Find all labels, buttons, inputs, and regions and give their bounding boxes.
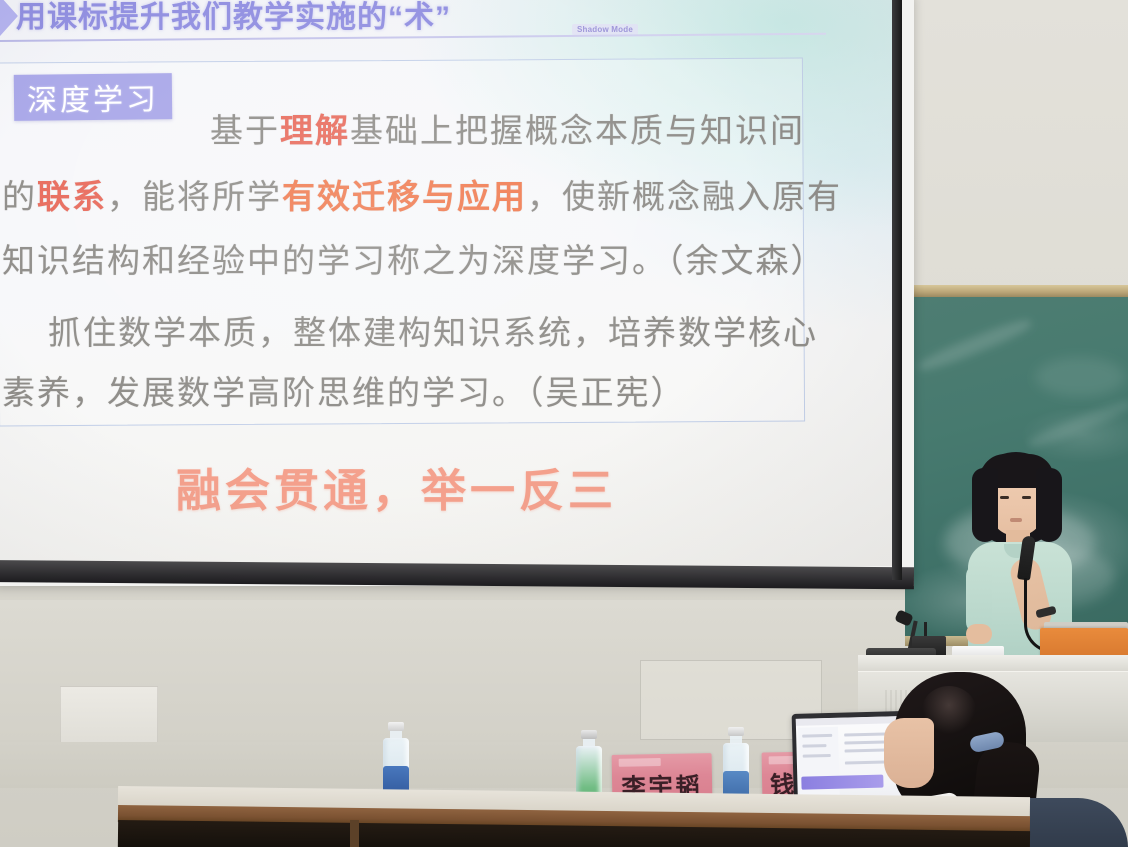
chalk-streak	[916, 315, 1033, 375]
slide-paragraph-4: 抓住数学本质，整体建构知识系统，培养数学核心	[48, 306, 818, 354]
laptop-selection-highlight	[801, 775, 883, 790]
slide-text-segment: ，能将所学	[107, 177, 282, 216]
bottle-cap	[728, 727, 744, 736]
status-badge: Shadow Mode	[572, 24, 638, 35]
slide-text-segment: 有效迁移与应用	[282, 177, 527, 216]
slide-text-segment: 的	[2, 177, 37, 216]
chalk-streak	[1026, 397, 1128, 451]
slide-paragraph-1: 基于理解基础上把握概念本质与知识间	[210, 104, 805, 152]
slide-slogan: 融会贯通，举一反三	[176, 454, 617, 519]
slide-text-segment: 基于	[210, 111, 280, 150]
slide-text-segment: ，使新概念融入原有	[527, 177, 842, 216]
nameplate-logo	[619, 758, 661, 767]
attendee-face	[884, 718, 934, 788]
screenshot-root: 用课标提升我们教学实施的“术” Shadow Mode 深度学习 基于理解基础上…	[0, 0, 1128, 847]
presenter-eye-left	[1000, 496, 1009, 499]
chalkboard-top-trim	[905, 285, 1128, 297]
presenter-eye-right	[1022, 496, 1031, 499]
chalk-smudge	[1035, 357, 1125, 397]
presenter-hand-left	[966, 624, 992, 644]
presenter-hair-left	[972, 468, 998, 542]
slide-text-segment: 基础上把握概念本质与知识间	[350, 111, 805, 150]
lectern-top	[858, 655, 1128, 671]
bottle-cap	[581, 730, 597, 739]
projector-screen: 用课标提升我们教学实施的“术” Shadow Mode 深度学习 基于理解基础上…	[0, 0, 914, 586]
presenter-mouth	[1010, 518, 1022, 522]
presentation-slide: 用课标提升我们教学实施的“术” Shadow Mode 深度学习 基于理解基础上…	[0, 0, 894, 566]
slide-text-segment: 联系	[37, 177, 107, 216]
small-wall-board	[60, 686, 158, 744]
slide-paragraph-2: 的联系，能将所学有效迁移与应用，使新概念融入原有	[2, 170, 842, 218]
slide-text-segment: 理解	[280, 111, 350, 150]
slide-text-segment: 素养，发展数学高阶思维的学习。（吴正宪）	[2, 373, 686, 412]
page-title: 用课标提升我们教学实施的“术”	[16, 0, 451, 36]
slide-text-segment: 知识结构和经验中的学习称之为深度学习。（余文森）	[2, 241, 826, 280]
screen-right-edge	[892, 0, 902, 580]
front-desk-leg	[350, 820, 359, 847]
section-tag-label: 深度学习	[27, 74, 159, 119]
slide-paragraph-5: 素养，发展数学高阶思维的学习。（吴正宪）	[2, 366, 686, 414]
bottle-cap	[388, 722, 404, 731]
slide-text-segment: 抓住数学本质，整体建构知识系统，培养数学核心	[48, 313, 818, 352]
laptop-sidebar-line	[802, 744, 826, 748]
presenter-hair-right	[1036, 468, 1062, 542]
slide-paragraph-3: 知识结构和经验中的学习称之为深度学习。（余文森）	[2, 234, 826, 282]
section-tag: 深度学习	[14, 73, 172, 121]
